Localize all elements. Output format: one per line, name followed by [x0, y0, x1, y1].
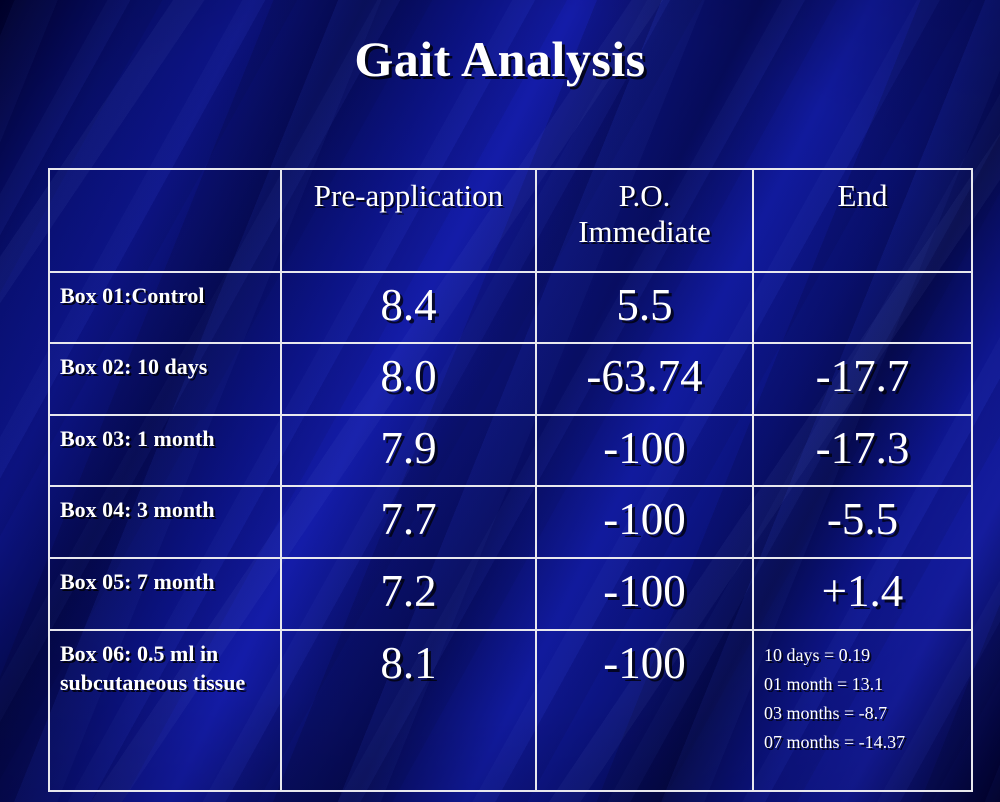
table-row: Box 04: 3 month 7.7 -100 -5.5 [49, 486, 972, 558]
value-cell-box-01-end [753, 272, 972, 344]
gait-analysis-table-wrapper: Pre-application P.O. Immediate End Box 0… [48, 168, 973, 792]
value-cell-box-02-pre: 8.0 [281, 343, 536, 415]
row-label-box-03: Box 03: 1 month [50, 416, 280, 453]
value-box-05-end: +1.4 [754, 559, 971, 614]
row-label-box-02: Box 02: 10 days [50, 344, 280, 381]
table-row: Box 01:Control 8.4 5.5 [49, 272, 972, 344]
table-row: Box 03: 1 month 7.9 -100 -17.3 [49, 415, 972, 487]
row-label-cell-box-05: Box 05: 7 month [49, 558, 281, 630]
value-cell-box-05-end: +1.4 [753, 558, 972, 630]
value-cell-box-01-po: 5.5 [536, 272, 753, 344]
value-box-01-pre: 8.4 [282, 273, 535, 328]
gait-analysis-table: Pre-application P.O. Immediate End Box 0… [48, 168, 973, 792]
value-cell-box-04-end: -5.5 [753, 486, 972, 558]
value-cell-box-04-pre: 7.7 [281, 486, 536, 558]
value-cell-box-03-pre: 7.9 [281, 415, 536, 487]
value-cell-box-03-end: -17.3 [753, 415, 972, 487]
table-row: Box 05: 7 month 7.2 -100 +1.4 [49, 558, 972, 630]
header-po-line1-label: P.O. [537, 170, 752, 214]
value-cell-box-06-po: -100 [536, 630, 753, 791]
header-end-label: End [754, 170, 971, 214]
end-note-line: 01 month = 13.1 [764, 670, 967, 699]
value-cell-box-05-po: -100 [536, 558, 753, 630]
value-box-01-end [754, 273, 971, 328]
table-row: Box 02: 10 days 8.0 -63.74 -17.7 [49, 343, 972, 415]
value-box-04-end: -5.5 [754, 487, 971, 542]
row-label-box-04: Box 04: 3 month [50, 487, 280, 524]
value-cell-box-03-po: -100 [536, 415, 753, 487]
slide-canvas: Gait Analysis Pre-application P.O [0, 0, 1000, 802]
end-notes-list: 10 days = 0.19 01 month = 13.1 03 months… [754, 631, 971, 758]
value-cell-box-06-pre: 8.1 [281, 630, 536, 791]
value-box-01-po: 5.5 [537, 273, 752, 328]
value-box-05-po: -100 [537, 559, 752, 614]
row-label-cell-box-03: Box 03: 1 month [49, 415, 281, 487]
header-cell-end: End [753, 169, 972, 272]
value-cell-box-06-end: 10 days = 0.19 01 month = 13.1 03 months… [753, 630, 972, 791]
row-label-cell-box-02: Box 02: 10 days [49, 343, 281, 415]
value-cell-box-05-pre: 7.2 [281, 558, 536, 630]
value-box-04-po: -100 [537, 487, 752, 542]
value-box-06-po: -100 [537, 631, 752, 686]
value-box-03-po: -100 [537, 416, 752, 471]
table-row: Box 06: 0.5 ml in subcutaneous tissue 8.… [49, 630, 972, 791]
table-header-row: Pre-application P.O. Immediate End [49, 169, 972, 272]
page-title: Gait Analysis [0, 30, 1000, 88]
value-box-02-end: -17.7 [754, 344, 971, 399]
row-label-cell-box-06: Box 06: 0.5 ml in subcutaneous tissue [49, 630, 281, 791]
value-cell-box-02-po: -63.74 [536, 343, 753, 415]
value-box-02-pre: 8.0 [282, 344, 535, 399]
header-corner-label [50, 170, 280, 178]
row-label-box-01: Box 01:Control [50, 273, 280, 310]
value-cell-box-01-pre: 8.4 [281, 272, 536, 344]
header-cell-po-immediate: P.O. Immediate [536, 169, 753, 272]
value-box-04-pre: 7.7 [282, 487, 535, 542]
value-box-05-pre: 7.2 [282, 559, 535, 614]
row-label-cell-box-04: Box 04: 3 month [49, 486, 281, 558]
row-label-box-05: Box 05: 7 month [50, 559, 280, 596]
row-label-cell-box-01: Box 01:Control [49, 272, 281, 344]
header-po-line2-label: Immediate [537, 214, 752, 250]
value-box-02-po: -63.74 [537, 344, 752, 399]
end-note-line: 03 months = -8.7 [764, 699, 967, 728]
value-box-03-pre: 7.9 [282, 416, 535, 471]
header-pre-application-label: Pre-application [282, 170, 535, 214]
value-box-03-end: -17.3 [754, 416, 971, 471]
value-cell-box-02-end: -17.7 [753, 343, 972, 415]
row-label-box-06: Box 06: 0.5 ml in subcutaneous tissue [50, 631, 280, 697]
end-note-line: 10 days = 0.19 [764, 641, 967, 670]
header-cell-corner [49, 169, 281, 272]
value-box-06-pre: 8.1 [282, 631, 535, 686]
end-note-line: 07 months = -14.37 [764, 728, 967, 757]
header-cell-pre-application: Pre-application [281, 169, 536, 272]
value-cell-box-04-po: -100 [536, 486, 753, 558]
